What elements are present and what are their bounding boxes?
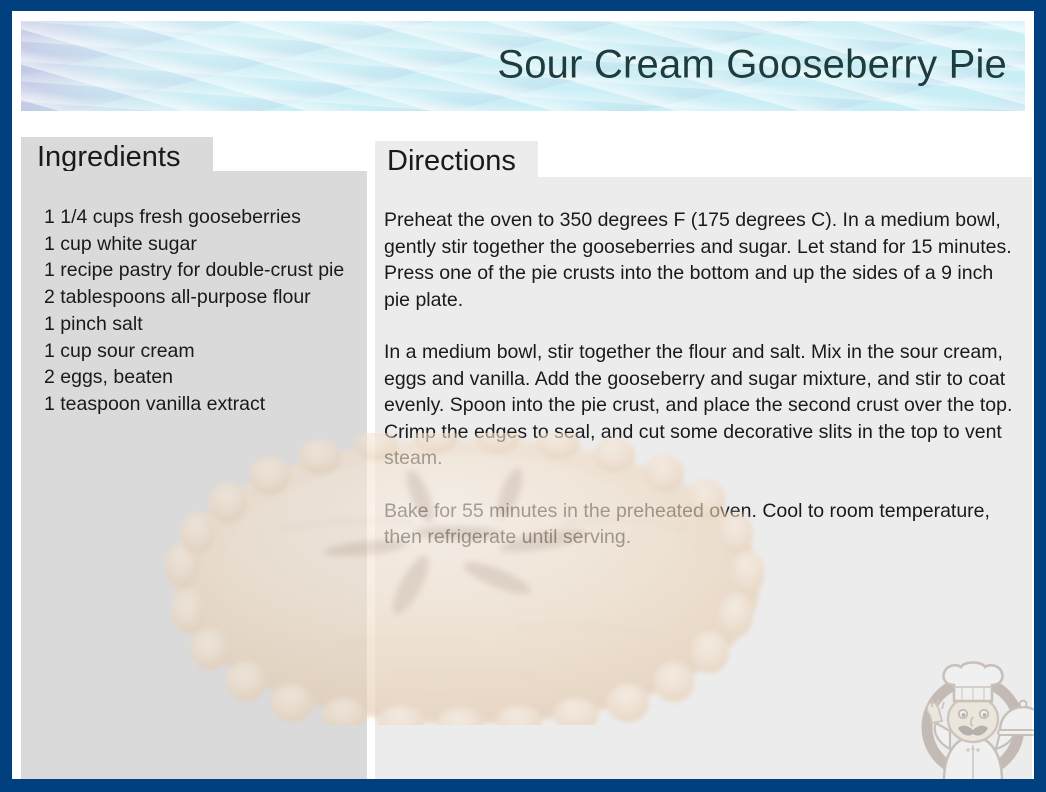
ingredient-item: 1 pinch salt [44,311,356,338]
ingredient-item: 1 recipe pastry for double-crust pie [44,257,356,284]
ingredient-item: 1 cup sour cream [44,338,356,365]
recipe-card-frame: Sour Cream Gooseberry Pie Ingredients Di… [0,0,1046,792]
recipe-title: Sour Cream Gooseberry Pie [497,43,1007,88]
recipe-card: Sour Cream Gooseberry Pie Ingredients Di… [12,11,1034,779]
ingredient-item: 1 cup white sugar [44,231,356,258]
directions-paragraph: Preheat the oven to 350 degrees F (175 d… [384,207,1024,313]
directions-text: Preheat the oven to 350 degrees F (175 d… [384,207,1024,551]
ingredients-panel: 1 1/4 cups fresh gooseberries1 cup white… [21,171,367,779]
tab-directions-label: Directions [387,147,516,176]
ingredient-item: 1 1/4 cups fresh gooseberries [44,204,356,231]
tab-ingredients-label: Ingredients [37,143,181,172]
ingredient-item: 1 teaspoon vanilla extract [44,391,356,418]
ingredient-item: 2 eggs, beaten [44,364,356,391]
directions-panel: Preheat the oven to 350 degrees F (175 d… [375,177,1032,779]
directions-paragraph: Bake for 55 minutes in the preheated ove… [384,498,1024,551]
tab-directions: Directions [375,141,538,181]
directions-paragraph: In a medium bowl, stir together the flou… [384,339,1024,472]
ingredient-list: 1 1/4 cups fresh gooseberries1 cup white… [44,204,356,418]
header-banner: Sour Cream Gooseberry Pie [21,21,1025,111]
ingredient-item: 2 tablespoons all-purpose flour [44,284,356,311]
